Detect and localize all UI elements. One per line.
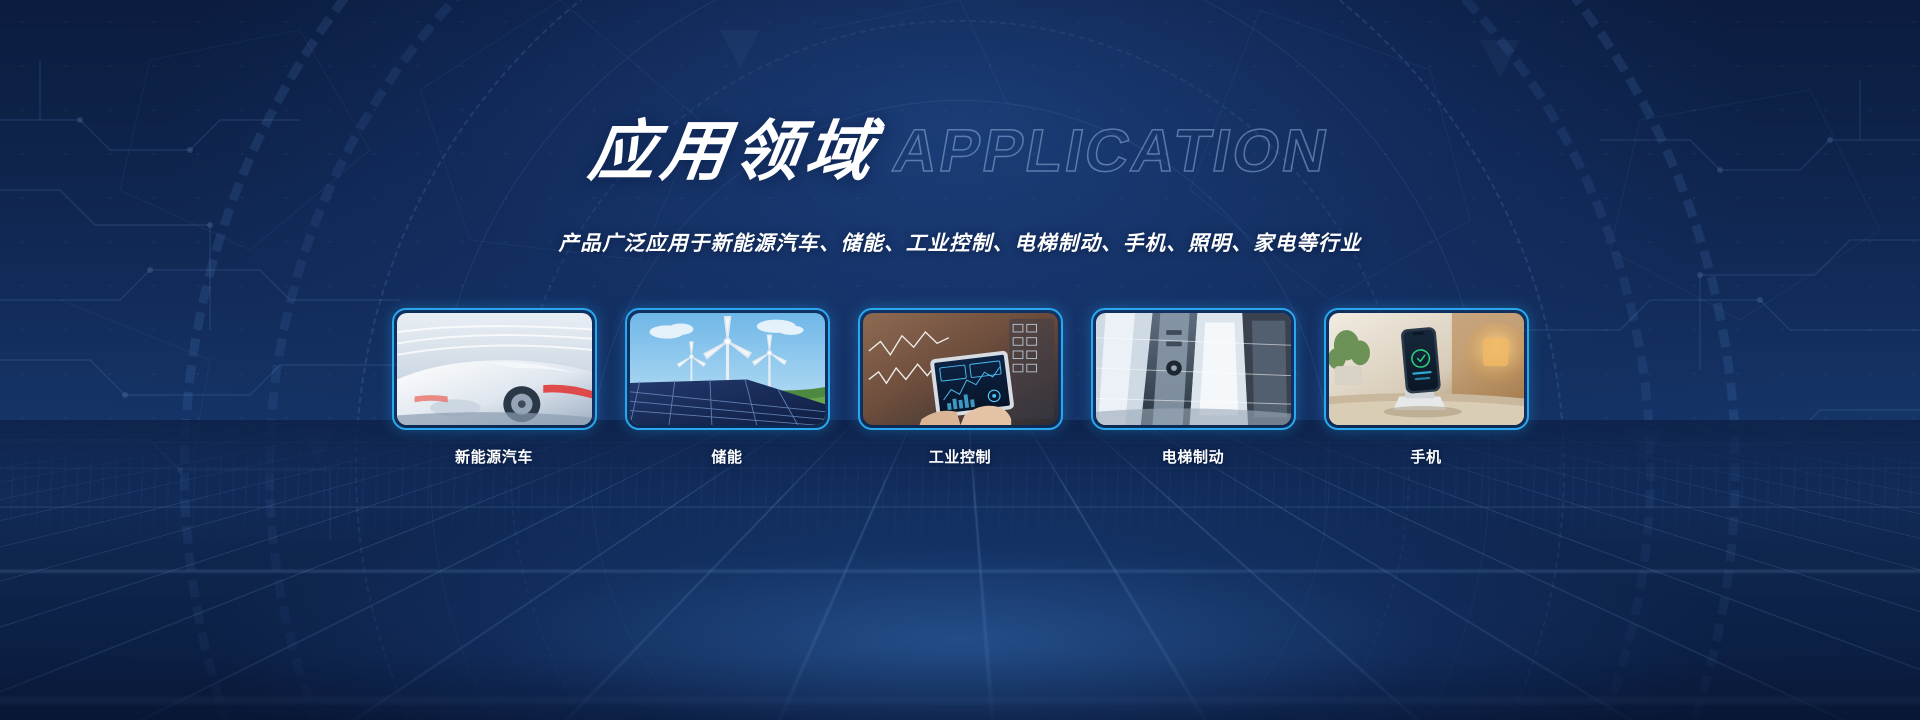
solar-panels-wind-turbines-photo: [630, 313, 825, 425]
page-title-cn: 应用领域: [586, 118, 883, 184]
application-card[interactable]: 工业控制: [858, 308, 1063, 467]
application-card[interactable]: 电梯制动: [1091, 308, 1296, 467]
application-card[interactable]: 手机: [1324, 308, 1529, 467]
page-title-en: APPLICATION: [889, 121, 1335, 181]
card-label: 储能: [711, 446, 742, 467]
card-label: 新能源汽车: [455, 446, 533, 467]
card-label: 电梯制动: [1162, 446, 1224, 467]
application-card[interactable]: 储能: [625, 308, 830, 467]
card-label: 手机: [1410, 446, 1441, 467]
application-card[interactable]: 新能源汽车: [392, 308, 597, 467]
card-thumbnail-frame[interactable]: [858, 308, 1063, 430]
banner-heading: 应用领域 APPLICATION: [0, 118, 1920, 184]
application-card-list: 新能源汽车: [0, 308, 1920, 467]
card-label: 工业控制: [929, 446, 991, 467]
card-thumbnail-frame[interactable]: [625, 308, 830, 430]
industrial-tablet-control-photo: [863, 313, 1058, 425]
electric-sports-car-photo: [397, 313, 592, 425]
card-thumbnail-frame[interactable]: [392, 308, 597, 430]
card-thumbnail-frame[interactable]: [1091, 308, 1296, 430]
card-thumbnail-frame[interactable]: [1324, 308, 1529, 430]
banner-subtitle: 产品广泛应用于新能源汽车、储能、工业控制、电梯制动、手机、照明、家电等行业: [0, 226, 1920, 256]
elevator-shaft-photo: [1096, 313, 1291, 425]
smartphone-wireless-charger-photo: [1329, 313, 1524, 425]
